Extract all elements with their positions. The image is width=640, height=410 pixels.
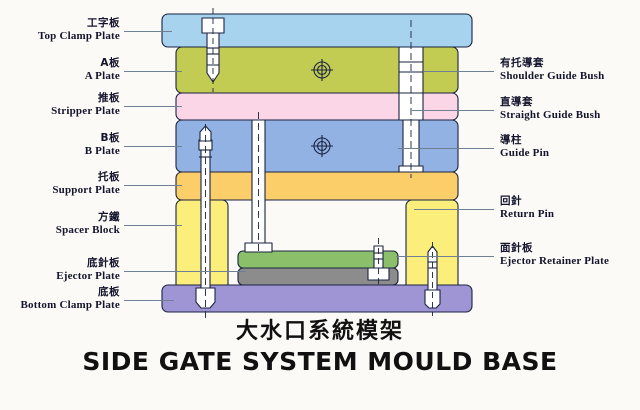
label-guide-pin: 導柱 Guide Pin (500, 135, 549, 159)
leader-a-plate (124, 71, 182, 72)
leader-ejector-retainer-plate (396, 256, 494, 257)
leader-support-plate (124, 185, 182, 186)
label-support-plate-en: Support Plate (52, 184, 120, 196)
label-ejector-plate: 底針板 Ejector Plate (56, 258, 120, 282)
label-b-plate-en: B Plate (85, 145, 120, 157)
leader-straight-guide-bush (412, 110, 494, 111)
label-bottom-clamp-plate-cn: 底板 (20, 287, 120, 299)
label-ejector-plate-cn: 底針板 (56, 258, 120, 270)
label-straight-guide-bush-cn: 直導套 (500, 97, 600, 109)
leader-top-clamp-plate (124, 31, 172, 32)
title-english: SIDE GATE SYSTEM MOULD BASE (0, 347, 640, 376)
label-top-clamp-plate-cn: 工字板 (38, 18, 120, 30)
label-bottom-clamp-plate: 底板 Bottom Clamp Plate (20, 287, 120, 311)
label-b-plate-cn: B板 (85, 133, 120, 145)
label-bottom-clamp-plate-en: Bottom Clamp Plate (20, 299, 120, 311)
label-stripper-plate: 推板 Stripper Plate (51, 93, 120, 117)
label-stripper-plate-cn: 推板 (51, 93, 120, 105)
label-b-plate: B板 B Plate (85, 133, 120, 157)
label-return-pin-cn: 回針 (500, 196, 554, 208)
leader-shoulder-guide-bush (424, 71, 494, 72)
label-straight-guide-bush: 直導套 Straight Guide Bush (500, 97, 600, 121)
leader-guide-pin (398, 148, 494, 149)
label-spacer-block-cn: 方鐵 (56, 212, 120, 224)
label-ejector-retainer-plate-en: Ejector Retainer Plate (500, 255, 609, 267)
label-ejector-retainer-plate-cn: 面針板 (500, 243, 609, 255)
label-top-clamp-plate-en: Top Clamp Plate (38, 30, 120, 42)
label-guide-pin-en: Guide Pin (500, 147, 549, 159)
label-return-pin: 回針 Return Pin (500, 196, 554, 220)
label-support-plate: 托板 Support Plate (52, 172, 120, 196)
leader-b-plate (124, 146, 182, 147)
label-ejector-retainer-plate: 面針板 Ejector Retainer Plate (500, 243, 609, 267)
leader-return-pin (414, 209, 494, 210)
label-support-plate-cn: 托板 (52, 172, 120, 184)
diagram-canvas: 工字板 Top Clamp Plate A板 A Plate 推板 Stripp… (0, 0, 640, 410)
leader-bottom-clamp-plate (124, 300, 174, 301)
plate-support-plate (176, 172, 458, 200)
leader-stripper-plate (124, 106, 182, 107)
label-a-plate-en: A Plate (85, 70, 120, 82)
leader-spacer-block (124, 225, 182, 226)
label-ejector-plate-en: Ejector Plate (56, 270, 120, 282)
label-spacer-block: 方鐵 Spacer Block (56, 212, 120, 236)
label-shoulder-guide-bush-en: Shoulder Guide Bush (500, 70, 604, 82)
label-stripper-plate-en: Stripper Plate (51, 105, 120, 117)
label-a-plate: A板 A Plate (85, 58, 120, 82)
leader-ejector-plate (124, 271, 246, 272)
label-shoulder-guide-bush-cn: 有托導套 (500, 58, 604, 70)
label-top-clamp-plate: 工字板 Top Clamp Plate (38, 18, 120, 42)
label-shoulder-guide-bush: 有托導套 Shoulder Guide Bush (500, 58, 604, 82)
label-straight-guide-bush-en: Straight Guide Bush (500, 109, 600, 121)
label-guide-pin-cn: 導柱 (500, 135, 549, 147)
label-return-pin-en: Return Pin (500, 208, 554, 220)
label-spacer-block-en: Spacer Block (56, 224, 120, 236)
label-a-plate-cn: A板 (85, 58, 120, 70)
title-chinese: 大水口系統模架 (0, 313, 640, 345)
